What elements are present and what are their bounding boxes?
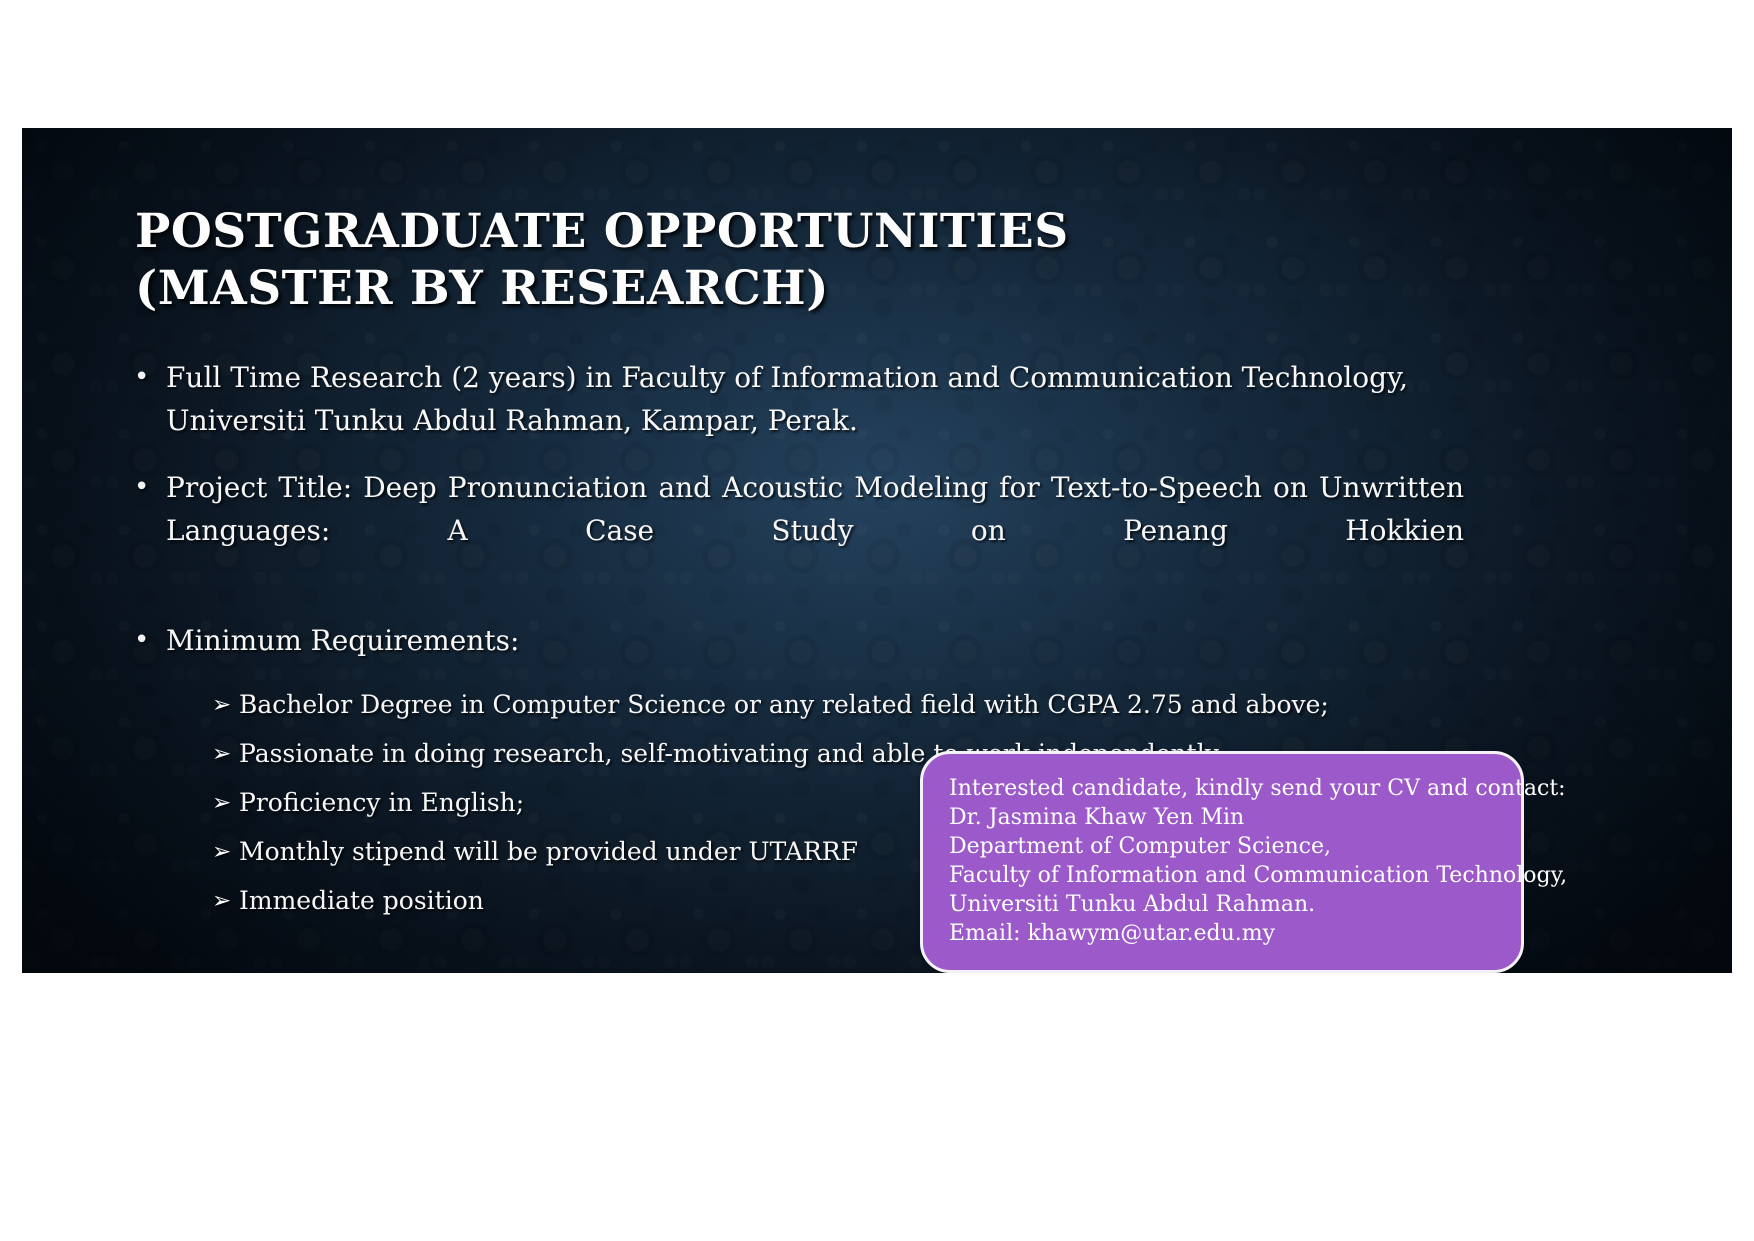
bullet-marker-icon: • xyxy=(134,619,166,661)
contact-line-email: Email: khawym@utar.edu.my xyxy=(949,919,1495,948)
bullet-marker-icon: • xyxy=(134,466,166,508)
bullet-item-project-title: • Project Title: Deep Pronunciation and … xyxy=(134,466,1464,595)
contact-callout-box: Interested candidate, kindly send your C… xyxy=(920,751,1524,973)
bullet-text: Full Time Research (2 years) in Faculty … xyxy=(166,356,1464,442)
arrow-bullet-icon: ➢ xyxy=(212,833,239,871)
contact-line-name: Dr. Jasmina Khaw Yen Min xyxy=(949,803,1495,832)
bullet-text: Project Title: Deep Pronunciation and Ac… xyxy=(166,466,1464,595)
arrow-bullet-icon: ➢ xyxy=(212,882,239,920)
sub-bullet-text: Bachelor Degree in Computer Science or a… xyxy=(239,686,1464,724)
presentation-slide: POSTGRADUATE OPPORTUNITIES (MASTER BY RE… xyxy=(22,128,1732,973)
bullet-item-full-time-research: • Full Time Research (2 years) in Facult… xyxy=(134,356,1464,442)
arrow-bullet-icon: ➢ xyxy=(212,686,239,724)
sub-bullet-item-bachelor-degree: ➢ Bachelor Degree in Computer Science or… xyxy=(212,686,1464,724)
contact-line-intro: Interested candidate, kindly send your C… xyxy=(949,774,1495,803)
contact-line-faculty: Faculty of Information and Communication… xyxy=(949,861,1495,890)
bullet-text: Minimum Requirements: xyxy=(166,619,1464,662)
arrow-bullet-icon: ➢ xyxy=(212,735,239,773)
slide-content: POSTGRADUATE OPPORTUNITIES (MASTER BY RE… xyxy=(22,128,1732,973)
bullet-marker-icon: • xyxy=(134,356,166,398)
contact-line-department: Department of Computer Science, xyxy=(949,832,1495,861)
arrow-bullet-icon: ➢ xyxy=(212,784,239,822)
slide-title: POSTGRADUATE OPPORTUNITIES (MASTER BY RE… xyxy=(135,203,1415,317)
contact-line-university: Universiti Tunku Abdul Rahman. xyxy=(949,890,1495,919)
bullet-item-minimum-requirements: • Minimum Requirements: xyxy=(134,619,1464,662)
